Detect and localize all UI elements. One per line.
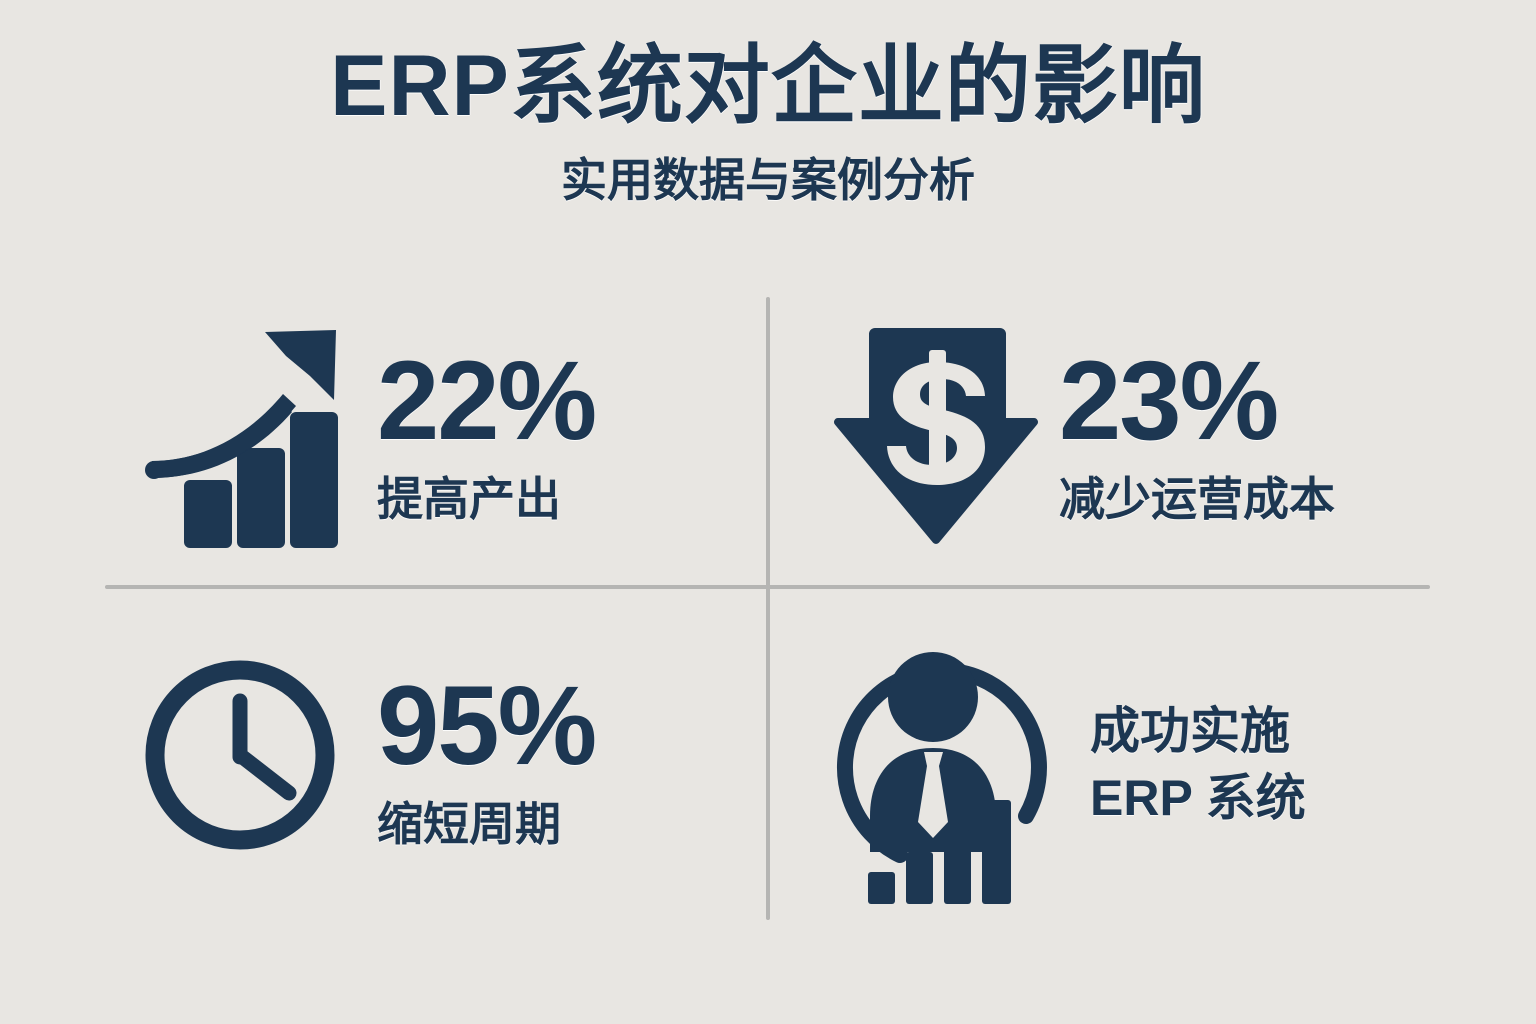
stat-label: 提高产出 (377, 473, 561, 526)
stat-card-implementation: 成功实施 ERP 系统 (830, 610, 1470, 920)
stat-text-cycle-time: 95% 缩短周期 (355, 670, 760, 851)
stat-card-cost-reduction: 23% 减少运营成本 (830, 290, 1470, 580)
businessman-chart-icon (830, 620, 1060, 910)
dollar-down-arrow-icon (830, 320, 1045, 550)
stat-text-cost-reduction: 23% 减少运营成本 (1045, 345, 1470, 526)
stat-label: 减少运营成本 (1059, 473, 1335, 526)
stat-value: 23% (1059, 345, 1277, 457)
infographic-canvas: ERP系统对企业的影响 实用数据与案例分析 (0, 0, 1536, 1024)
stat-value: 22% (377, 345, 595, 457)
stat-card-productivity: 22% 提高产出 (140, 290, 760, 580)
page-subtitle: 实用数据与案例分析 (0, 155, 1536, 206)
header: ERP系统对企业的影响 实用数据与案例分析 (0, 40, 1536, 205)
page-title: ERP系统对企业的影响 (0, 40, 1536, 133)
caption-line-2: ERP 系统 (1090, 765, 1306, 833)
stat-value: 95% (377, 670, 595, 782)
clock-icon (140, 653, 355, 868)
growth-chart-icon (140, 320, 355, 550)
stat-card-cycle-time: 95% 缩短周期 (140, 610, 760, 910)
stat-text-productivity: 22% 提高产出 (355, 345, 760, 526)
stat-label: 缩短周期 (377, 798, 561, 851)
stats-grid: 22% 提高产出 23% 减少运营成本 (0, 280, 1536, 960)
caption-line-1: 成功实施 (1090, 698, 1290, 766)
stat-text-implementation: 成功实施 ERP 系统 (1060, 698, 1470, 833)
